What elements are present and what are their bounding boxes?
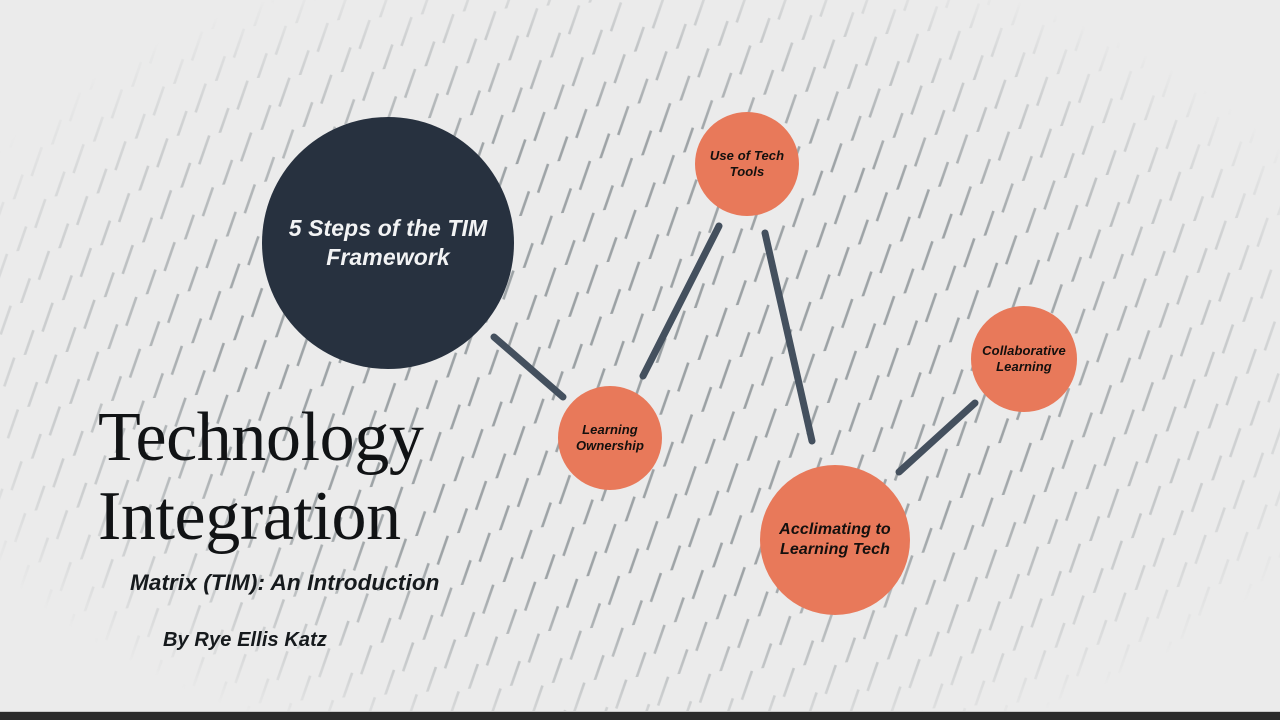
node-collaborative-learning[interactable]: Collaborative Learning [971, 306, 1077, 412]
node-use-of-tech-tools[interactable]: Use of Tech Tools [695, 112, 799, 216]
node-use-of-tech-tools-label: Use of Tech Tools [695, 148, 799, 181]
node-acclimating-to-learning-tech-label: Acclimating to Learning Tech [760, 520, 910, 560]
page-title-line-1: Technology [98, 399, 423, 476]
node-acclimating-to-learning-tech[interactable]: Acclimating to Learning Tech [760, 465, 910, 615]
connector-use-of-tech-tools-to-acclimating [765, 233, 812, 441]
connector-collaborative-learning-to-acclimating [899, 403, 975, 472]
node-tim-framework-hub[interactable]: 5 Steps of the TIM Framework [262, 117, 514, 369]
title-block: Technology Integration Matrix (TIM): An … [98, 398, 618, 652]
presentation-slide: 5 Steps of the TIM FrameworkUse of Tech … [0, 0, 1280, 720]
connector-learning-ownership-to-use-of-tech-tools [643, 226, 719, 376]
byline: By Rye Ellis Katz [163, 629, 618, 652]
page-title-line-2: Integration [98, 477, 618, 556]
node-tim-framework-hub-label: 5 Steps of the TIM Framework [262, 214, 514, 272]
connector-hub-to-learning-ownership [494, 337, 563, 397]
bottom-bar [0, 712, 1280, 720]
page-title: Technology Integration [98, 398, 618, 556]
subtitle: Matrix (TIM): An Introduction [130, 570, 618, 596]
node-collaborative-learning-label: Collaborative Learning [971, 343, 1077, 376]
